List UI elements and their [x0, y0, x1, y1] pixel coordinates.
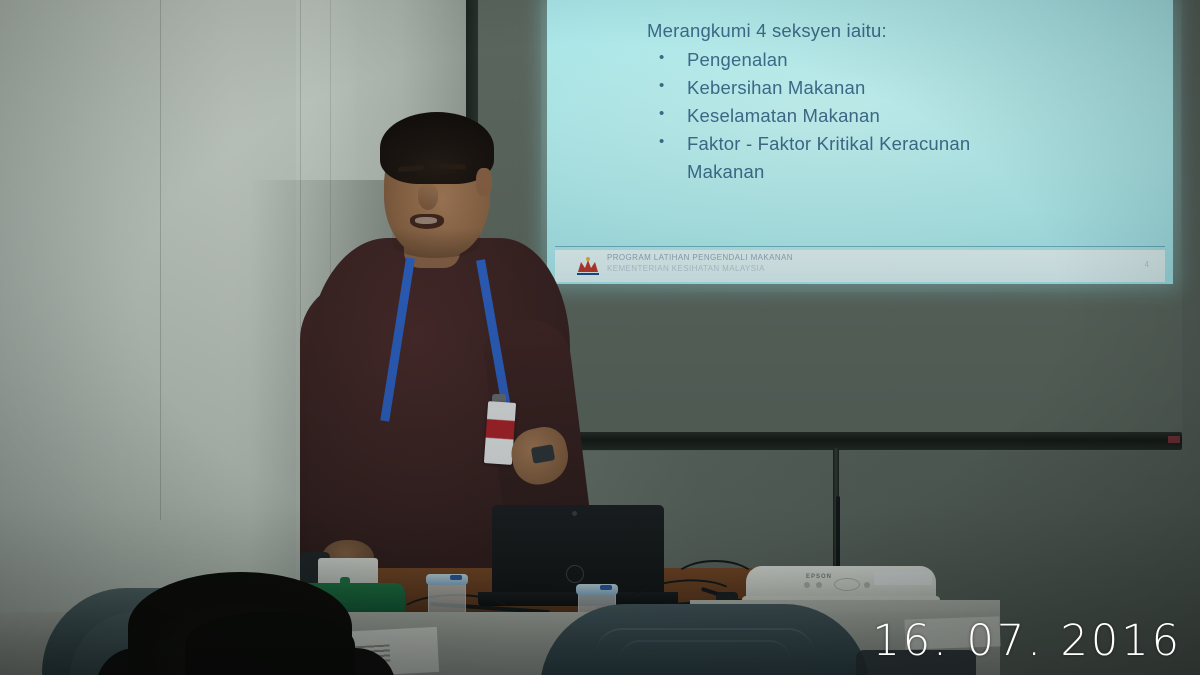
slide-title: Merangkumi 4 seksyen iaitu:: [647, 20, 1147, 42]
laptop-brand-logo-icon: [566, 565, 584, 583]
list-item: • Faktor - Faktor Kritikal Keracunan Mak…: [647, 130, 1147, 186]
projector-button[interactable]: [816, 582, 822, 588]
bullet-icon: •: [659, 102, 664, 125]
wall-seam: [160, 0, 161, 520]
bullet-text: Keselamatan Makanan: [687, 105, 880, 126]
projector-top-brand-label: EPSON: [806, 574, 832, 580]
presenter-chin-shadow: [392, 228, 480, 258]
projector-button[interactable]: [864, 582, 870, 588]
antenna-rod: [836, 496, 840, 570]
cup-lid-tab: [450, 575, 462, 580]
list-item: • Keselamatan Makanan: [647, 102, 1147, 130]
camera-date-stamp: 16. 07. 2016: [872, 620, 1182, 663]
footer-line-2: KEMENTERIAN KESIHATAN MALAYSIA: [607, 264, 793, 275]
slide-page-number: 4: [1145, 260, 1149, 269]
presenter-teeth: [415, 217, 437, 224]
roller-bar-end-cap: [1168, 436, 1180, 443]
green-case-knob: [340, 577, 350, 587]
bullet-text: Pengenalan: [687, 49, 788, 70]
audience-member-hair: [185, 612, 355, 675]
presenter-eye: [443, 174, 460, 181]
chair-embossed-pattern: [620, 640, 790, 660]
projector-focus-dial: [834, 578, 860, 591]
projector-sticker: [874, 571, 932, 585]
footer-line-1: PROGRAM LATIHAN PENGENDALI MAKANAN: [607, 253, 793, 264]
slide-footer: PROGRAM LATIHAN PENGENDALI MAKANAN KEMEN…: [555, 250, 1165, 282]
laptop-webcam: [572, 511, 577, 516]
projected-slide: Merangkumi 4 seksyen iaitu: • Pengenalan…: [547, 0, 1173, 284]
bullet-icon: •: [659, 46, 664, 69]
presenter-nose: [418, 184, 438, 210]
photograph-canvas: Merangkumi 4 seksyen iaitu: • Pengenalan…: [0, 0, 1200, 675]
bullet-icon: •: [659, 74, 664, 97]
slide-content: Merangkumi 4 seksyen iaitu: • Pengenalan…: [647, 20, 1147, 187]
projector-top-shell: EPSON: [746, 566, 936, 600]
presenter-eye: [402, 176, 419, 183]
cup-lid-tab: [600, 585, 612, 590]
slide-bullet-list: • Pengenalan • Kebersihan Makanan • Kese…: [647, 46, 1147, 187]
projector-button[interactable]: [804, 582, 810, 588]
bullet-icon: •: [659, 130, 664, 153]
bullet-text-continued: Makanan: [687, 158, 1147, 186]
slide-divider: [555, 246, 1165, 247]
slide-footer-text: PROGRAM LATIHAN PENGENDALI MAKANAN KEMEN…: [607, 253, 793, 275]
list-item: • Pengenalan: [647, 46, 1147, 74]
presenter-ear: [476, 168, 492, 196]
list-item: • Kebersihan Makanan: [647, 74, 1147, 102]
bullet-text: Kebersihan Makanan: [687, 77, 865, 98]
bullet-text: Faktor - Faktor Kritikal Keracunan: [687, 133, 970, 154]
